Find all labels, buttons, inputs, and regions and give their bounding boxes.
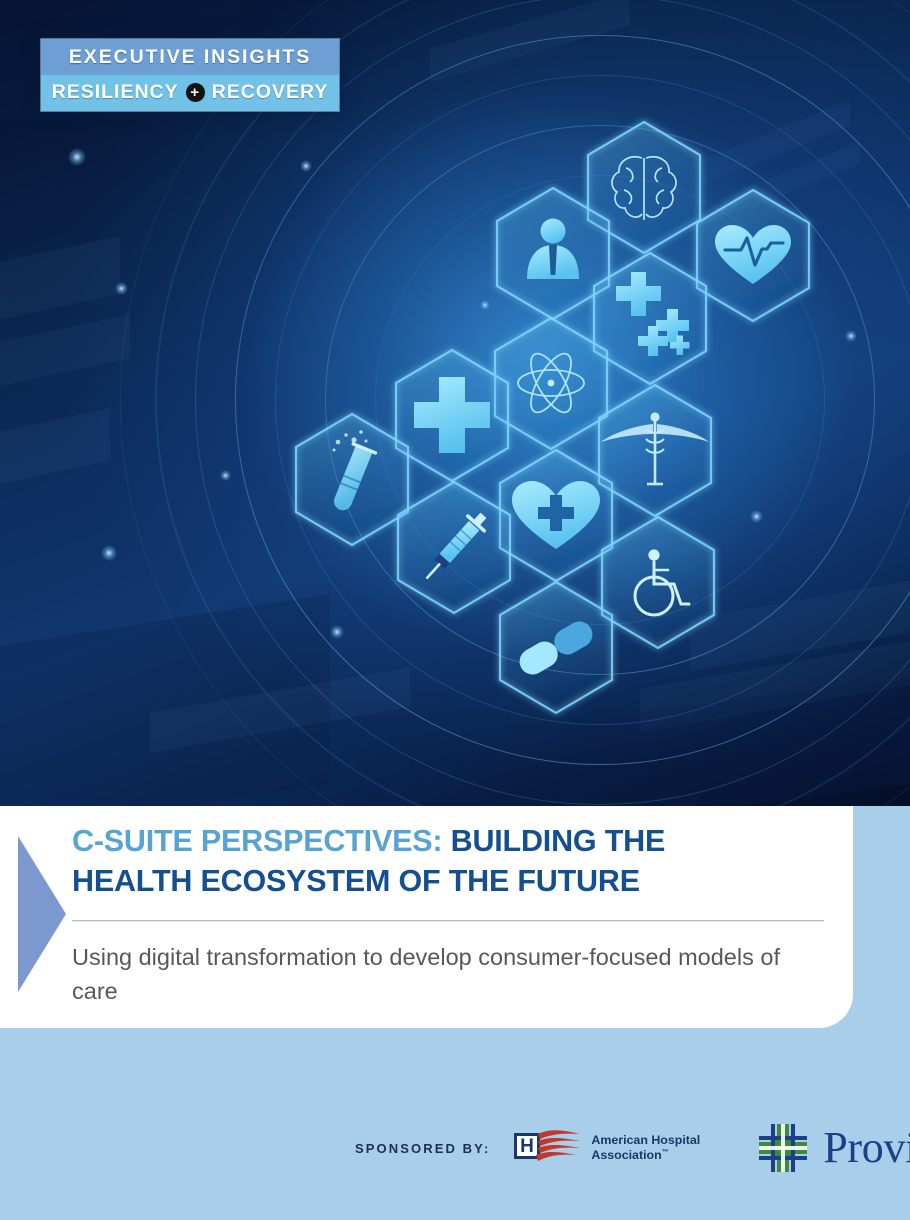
providence-cross-icon <box>756 1121 810 1175</box>
aha-name-line1: American Hospital <box>591 1133 700 1147</box>
providence-name-text: Providence <box>823 1126 910 1170</box>
executive-insights-badge: EXECUTIVE INSIGHTS RESILIENCY + RECOVERY <box>40 38 340 112</box>
arrow-marker-icon <box>18 836 66 992</box>
aha-trademark: ™ <box>662 1149 669 1156</box>
badge-line-executive-insights: EXECUTIVE INSIGHTS <box>41 39 339 75</box>
sponsored-by-label: SPONSORED BY: <box>355 1141 490 1156</box>
page-title: C-SUITE PERSPECTIVES: BUILDING THEHEALTH… <box>72 822 828 901</box>
aha-name-text: American Hospital Association™ <box>591 1133 700 1163</box>
badge-line-resiliency-recovery: RESILIENCY + RECOVERY <box>41 75 339 111</box>
badge-recovery-label: RECOVERY <box>212 81 329 104</box>
badge-resiliency-label: RESILIENCY <box>52 81 179 104</box>
title-divider <box>72 920 824 922</box>
aha-name-line2: Association <box>591 1148 661 1162</box>
plus-icon: + <box>186 83 205 102</box>
title-rest-line1: BUILDING THE <box>442 824 665 858</box>
title-rest-line2: HEALTH ECOSYSTEM OF THE FUTURE <box>72 864 640 898</box>
sponsor-row: SPONSORED BY: H American Hospital Associ… <box>0 1112 910 1184</box>
providence-logo[interactable]: Providence <box>756 1121 910 1175</box>
page-subtitle: Using digital transformation to develop … <box>72 940 832 1008</box>
hero-image: EXECUTIVE INSIGHTS RESILIENCY + RECOVERY <box>0 0 910 806</box>
title-heading: C-SUITE PERSPECTIVES: BUILDING THEHEALTH… <box>72 822 828 901</box>
title-lead: C-SUITE PERSPECTIVES: <box>72 824 442 858</box>
hexagon-icon-cluster <box>0 0 910 806</box>
aha-mark-icon: H <box>512 1125 584 1171</box>
american-hospital-association-logo[interactable]: H American Hospital Association™ <box>512 1125 700 1171</box>
svg-text:H: H <box>521 1136 535 1157</box>
